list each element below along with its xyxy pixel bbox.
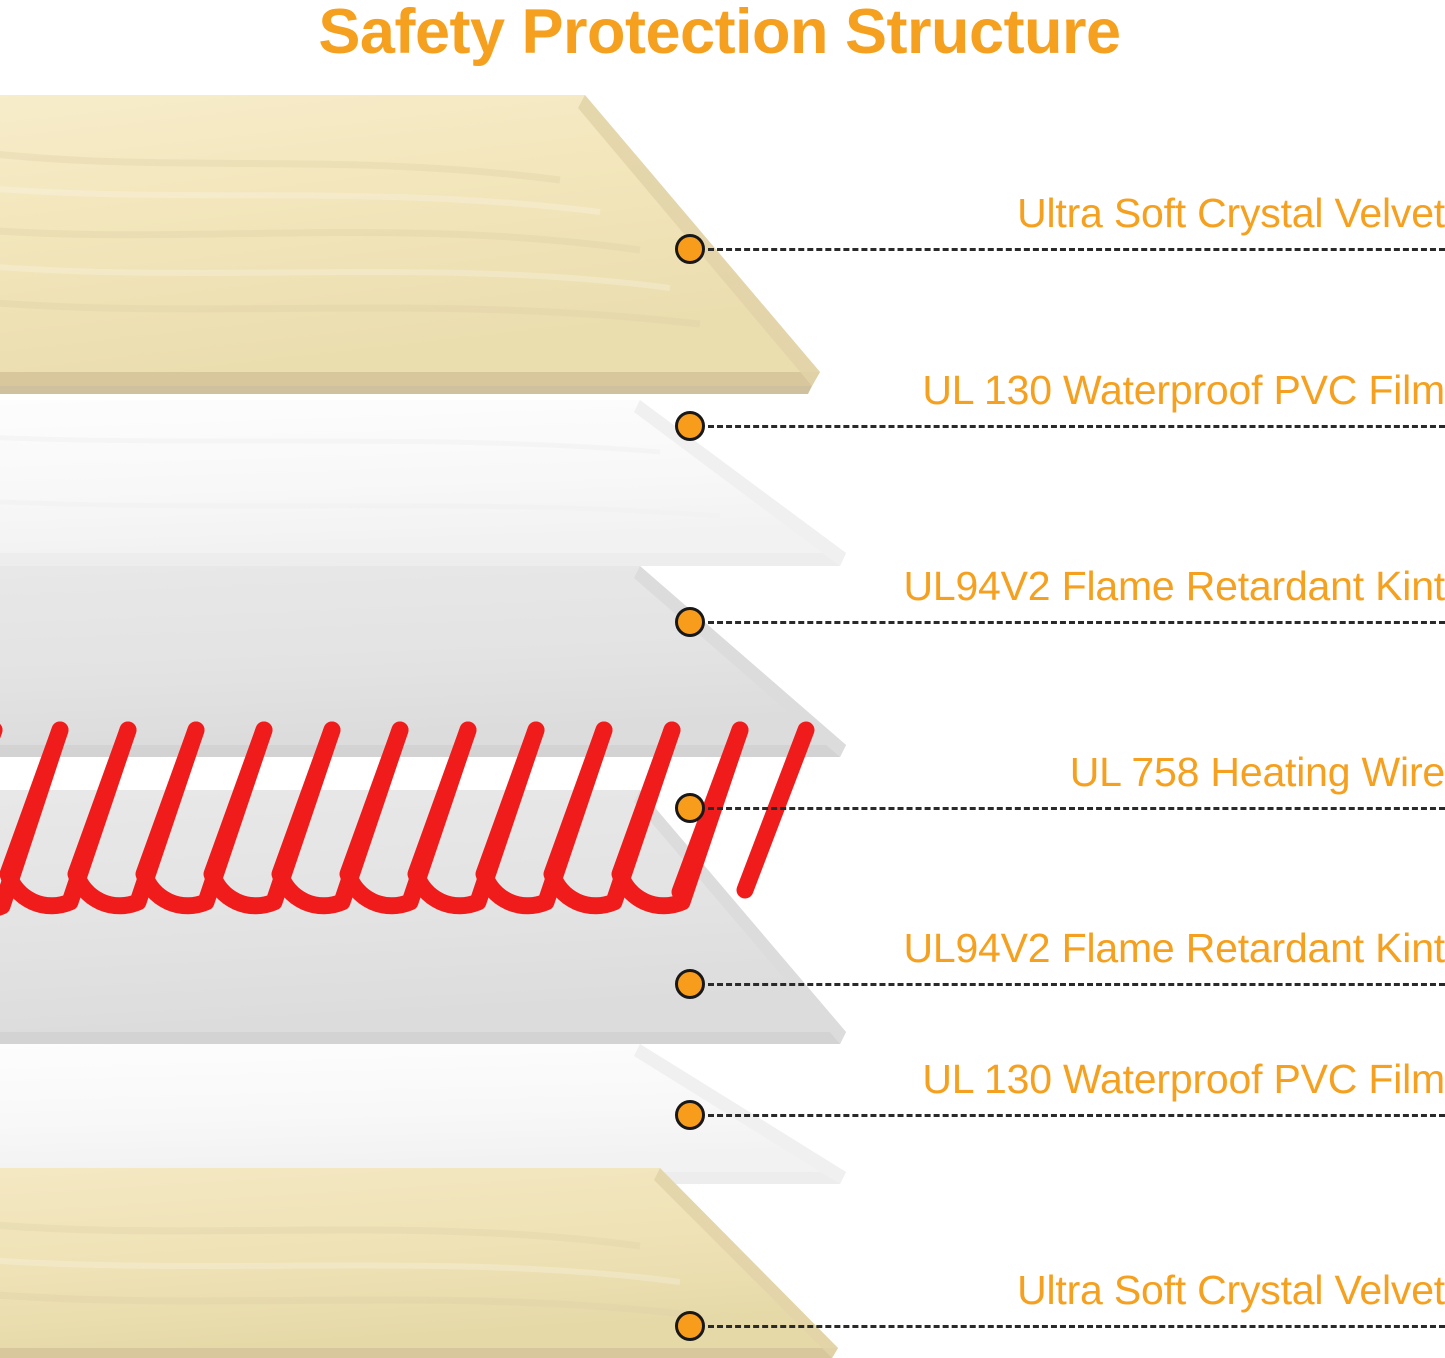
leader-line [708, 425, 1445, 428]
callout-label: Ultra Soft Crystal Velvet [1017, 190, 1445, 237]
callout-dot-icon[interactable] [675, 411, 705, 441]
leader-line [708, 1325, 1445, 1328]
callout-dot-icon[interactable] [675, 607, 705, 637]
callout-dot-icon[interactable] [675, 234, 705, 264]
leader-line [708, 807, 1445, 810]
callout-label: UL 758 Heating Wire [1070, 749, 1445, 796]
leader-line [708, 248, 1445, 251]
leader-line [708, 1114, 1445, 1117]
callout-label: UL94V2 Flame Retardant Kint [903, 925, 1445, 972]
callout-label: UL 130 Waterproof PVC Film [922, 1056, 1445, 1103]
layer-knit-bottom [0, 790, 846, 1044]
leader-line [708, 621, 1445, 624]
leader-line [708, 983, 1445, 986]
callout-dot-icon[interactable] [675, 969, 705, 999]
layer-velvet-bottom [0, 1168, 838, 1358]
callout-dot-icon[interactable] [675, 793, 705, 823]
callout-label: UL94V2 Flame Retardant Kint [903, 563, 1445, 610]
callout-dot-icon[interactable] [675, 1100, 705, 1130]
callout-dot-icon[interactable] [675, 1311, 705, 1341]
page-title: Safety Protection Structure [0, 0, 1445, 68]
callout-label: UL 130 Waterproof PVC Film [922, 367, 1445, 414]
callout-label: Ultra Soft Crystal Velvet [1017, 1267, 1445, 1314]
